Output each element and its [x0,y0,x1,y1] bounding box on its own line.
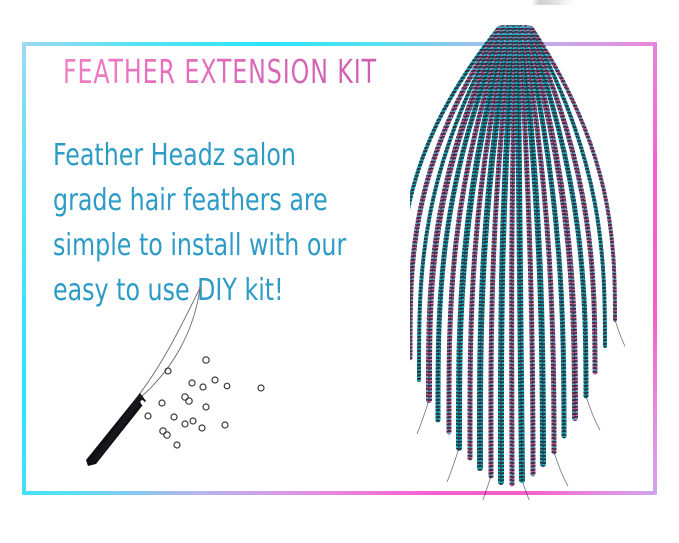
feather-bundle-svg [410,0,625,500]
feather-tip-wisp [586,396,600,430]
micro-ring [258,385,264,391]
feather-tip-wisp [479,476,491,500]
micro-ring [199,425,205,431]
micro-ring [203,357,209,363]
micro-ring [182,421,188,427]
micro-ring [159,400,165,406]
feather-tip-wisp [615,320,625,354]
micro-ring [224,383,230,389]
page-title: FEATHER EXTENSION KIT [63,54,377,90]
micro-ring [189,380,195,386]
micro-rings-svg [140,355,320,455]
feather-tip-wisp [554,452,568,486]
feather-tip-wisp [417,400,429,434]
micro-ring [182,394,188,400]
micro-ring [174,442,180,448]
micro-ring-scatter [140,355,320,455]
micro-ring [212,377,218,383]
micro-ring [160,428,166,434]
feather-bundle-image [410,0,625,500]
micro-ring [145,413,151,419]
feather-tip-wisp [522,480,536,500]
threader-wire-tip [199,287,202,290]
micro-ring [203,404,209,410]
feather-tip-wisp [447,448,459,482]
micro-ring [186,398,192,404]
micro-ring [171,414,177,420]
banner-canvas: FEATHER EXTENSION KIT Feather Headz salo… [0,0,679,543]
feather-strands-group [410,28,615,484]
threader-handle-highlight [92,393,144,462]
micro-ring [164,432,170,438]
micro-ring [165,368,171,374]
micro-ring [200,384,206,390]
micro-ring [190,418,196,424]
micro-ring [222,422,228,428]
